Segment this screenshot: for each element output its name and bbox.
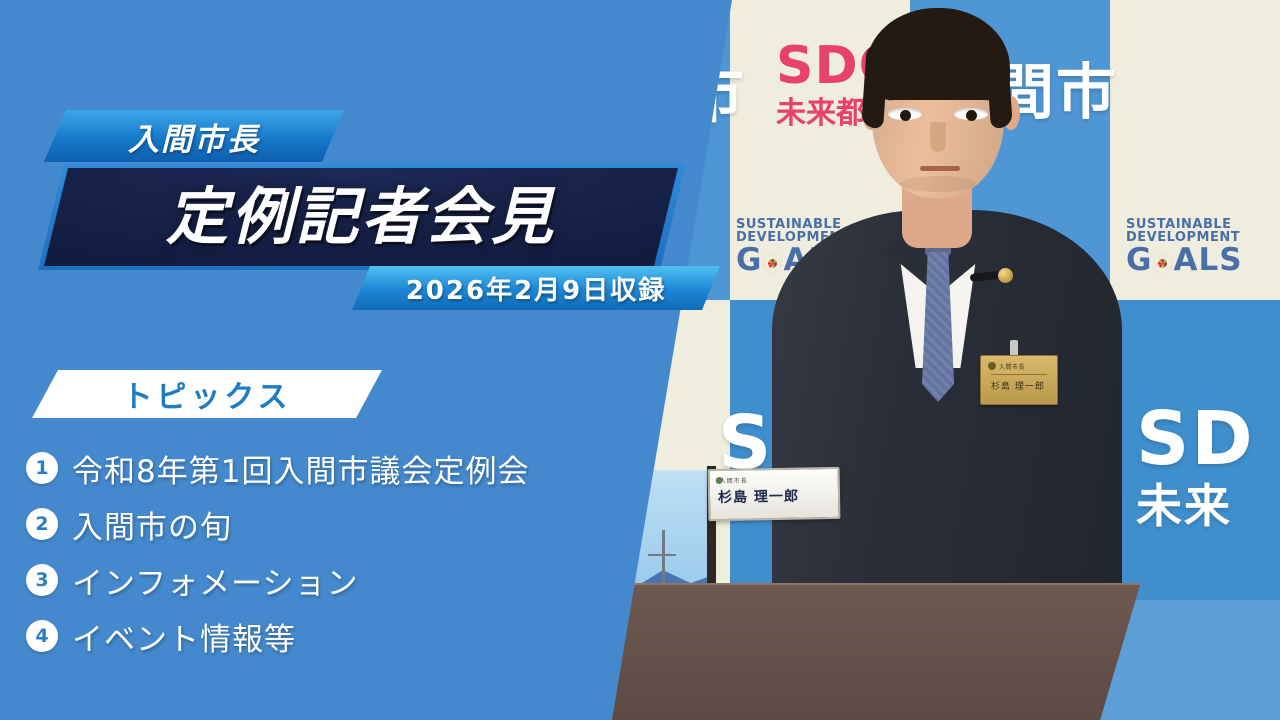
topic-number-badge: 2 [26,508,58,540]
press-conference-photo: 入間市 入間市 SDGs 未来都市 SUSTAINABLE DEVELOPMEN… [540,0,1280,720]
lapel-pin-icon [998,268,1013,283]
sdg-logo-g: G [1126,242,1152,278]
sdg-logo-als: ALS [1173,242,1242,278]
topics-list: 1 令和8年第1回入間市議会定例会 2 入間市の旬 3 インフォメーション 4 … [26,440,626,664]
nameplate-title: 入間市長 [720,474,838,485]
lapel-badge-title: 入間市長 [999,362,1057,371]
topic-number-badge: 3 [26,564,58,596]
lapel-badge-divider [991,374,1047,375]
podium [540,585,1200,720]
backdrop-text-irumashi-left: 入間市 [554,44,746,134]
jaw-shading [900,176,976,192]
eyebrow-banner-label: 入間市長 [44,110,344,162]
recorded-date-label: 2026年2月9日収録 [352,266,720,310]
list-item: 3 インフォメーション [26,552,626,608]
topic-label: 入間市の旬 [72,502,232,547]
nameplate-name: 杉島 理一郎 [718,485,838,507]
desk-nameplate: 入間市長 杉島 理一郎 [708,467,841,521]
list-item: 2 入間市の旬 [26,496,626,552]
page-title: 定例記者会見 [44,168,678,266]
topic-label: イベント情報等 [72,614,296,659]
topic-label: 令和8年第1回入間市議会定例会 [72,446,529,491]
sdg-logo-line3: GALS [1126,245,1243,277]
pupil-left [900,110,911,121]
topic-number-badge: 4 [26,620,58,652]
topics-header-label: トピックス [32,370,382,418]
sdg-color-wheel-icon [1153,254,1172,273]
broadcast-title-card: 入間市 入間市 SDGs 未来都市 SUSTAINABLE DEVELOPMEN… [0,0,1280,720]
lapel-name-badge: 入間市長 杉島 理一郎 [980,355,1058,405]
topic-number-badge: 1 [26,452,58,484]
mayor-portrait: 入間市長 杉島 理一郎 [780,0,1110,620]
backdrop-lower-right-sub: 未来 [1136,470,1232,536]
sdg-logo-right: SUSTAINABLE DEVELOPMENT GALS [1126,218,1243,276]
city-emblem-icon [716,477,723,484]
city-emblem-icon [988,362,996,370]
lapel-badge-name: 杉島 理一郎 [991,379,1057,392]
necktie [922,252,954,402]
sdg-logo-line1: SUSTAINABLE [1126,218,1243,231]
mouth [920,166,960,171]
list-item: 4 イベント情報等 [26,608,626,664]
nose [930,122,946,152]
sdg-logo-g: G [736,242,762,278]
pupil-right [966,110,977,121]
topic-label: インフォメーション [72,558,358,603]
list-item: 1 令和8年第1回入間市議会定例会 [26,440,626,496]
